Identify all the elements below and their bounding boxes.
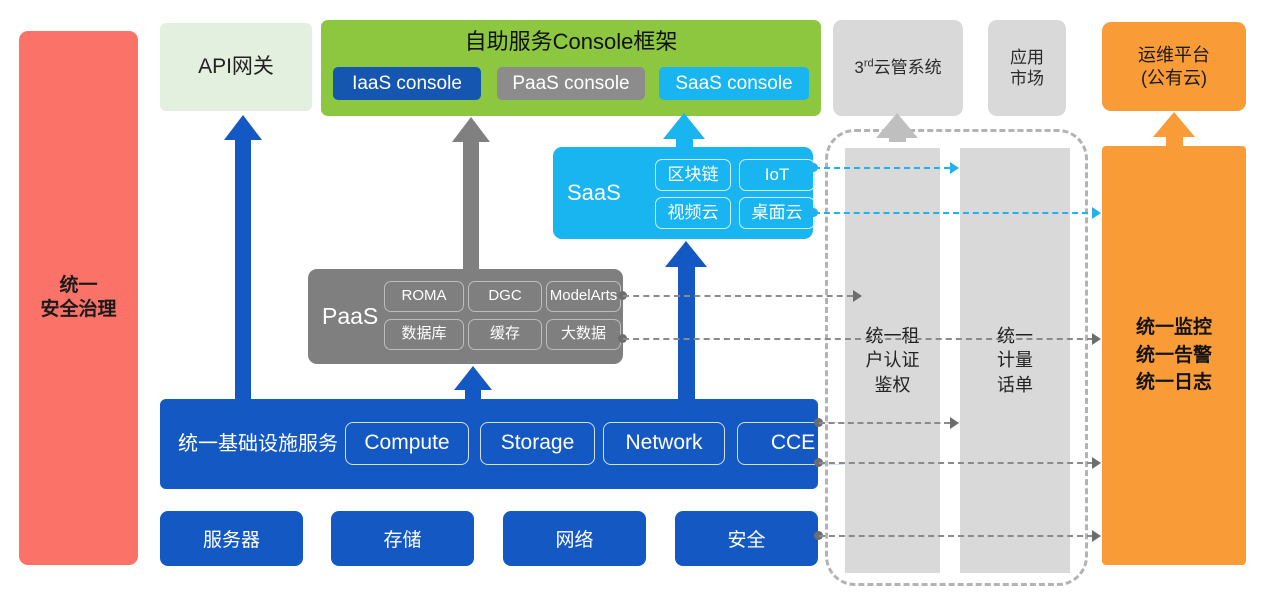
paas-console-chip[interactable]: PaaS console: [497, 67, 645, 100]
self-service-console-frame[interactable]: 自助服务Console框架 IaaS console PaaS console …: [321, 20, 821, 116]
dashed-line-paas-to-ops: [623, 338, 1093, 340]
hardware-box-network[interactable]: 网络: [503, 511, 646, 566]
dashed-arrowhead-hardware-to-ops: [1092, 530, 1101, 542]
hardware-box-server-label: 服务器: [203, 525, 260, 552]
arrow-infra-to-api-gateway: [224, 115, 262, 401]
dashed-line-infra-to-ops: [819, 462, 1093, 464]
hardware-box-storage-label: 存储: [383, 525, 421, 552]
architecture-diagram: 统一 安全治理 API网关 自助服务Console框架 IaaS console…: [0, 0, 1265, 605]
dashed-line-hardware-to-ops: [819, 535, 1093, 537]
paas-chip-cache-label: 缓存: [490, 325, 520, 344]
unified-billing-label: 统一 计量 话单: [997, 324, 1033, 397]
unified-security-governance-label: 统一 安全治理: [40, 274, 116, 322]
saas-chip-iot[interactable]: IoT: [739, 159, 815, 191]
unified-security-governance-panel[interactable]: 统一 安全治理: [19, 31, 138, 565]
paas-chip-modelarts[interactable]: ModelArts: [546, 281, 621, 312]
arrow-saas-to-saas-console: [663, 113, 705, 151]
third-party-superscript: rd: [864, 58, 874, 70]
arrow-infra-to-paas: [454, 366, 492, 402]
unified-infrastructure-service-name: 统一基础设施服务: [178, 399, 338, 489]
paas-chip-database-label: 数据库: [401, 325, 446, 344]
dashed-arrowhead-saas-to-billing: [950, 162, 959, 174]
infra-chip-network-label: Network: [625, 430, 702, 456]
dashed-line-paas-to-auth: [623, 295, 853, 297]
saas-chip-blockchain-label: 区块链: [668, 164, 719, 185]
dashed-arrowhead-paas-to-auth: [853, 290, 862, 302]
saas-layer[interactable]: SaaS 区块链 IoT 视频云 桌面云: [553, 147, 813, 239]
infra-chip-storage-label: Storage: [501, 430, 575, 456]
paas-chip-dgc-label: DGC: [488, 287, 521, 306]
saas-layer-name: SaaS: [567, 147, 621, 239]
third-party-prefix: 3: [854, 58, 863, 77]
infra-chip-network[interactable]: Network: [603, 422, 725, 465]
saas-chip-iot-label: IoT: [765, 164, 790, 185]
console-frame-title: 自助服务Console框架: [321, 28, 821, 56]
hardware-box-security[interactable]: 安全: [675, 511, 818, 566]
infra-chip-storage[interactable]: Storage: [480, 422, 595, 465]
api-gateway-label: API网关: [198, 54, 274, 80]
app-market-box[interactable]: 应用 市场: [988, 20, 1066, 116]
dashed-arrowhead-infra-to-ops: [1092, 457, 1101, 469]
unified-tenant-auth-label: 统一租 户认证 鉴权: [866, 324, 920, 397]
saas-chip-video-cloud-label: 视频云: [668, 202, 719, 223]
paas-layer-name: PaaS: [322, 269, 378, 364]
third-party-cloud-management-label: 3rd云管系统: [854, 57, 941, 78]
dashed-line-infra-to-billing: [819, 422, 950, 424]
hardware-box-security-label: 安全: [727, 525, 765, 552]
paas-chip-dgc[interactable]: DGC: [468, 281, 542, 312]
saas-chip-desktop-cloud-label: 桌面云: [752, 202, 803, 223]
iaas-console-label: IaaS console: [352, 72, 462, 96]
third-party-suffix: 云管系统: [874, 58, 942, 77]
hardware-box-network-label: 网络: [555, 525, 593, 552]
dashed-arrowhead-saas-to-ops: [1092, 207, 1101, 219]
saas-console-chip[interactable]: SaaS console: [659, 67, 809, 100]
paas-chip-bigdata[interactable]: 大数据: [546, 319, 621, 350]
unified-infrastructure-service-bar[interactable]: 统一基础设施服务 Compute Storage Network CCE: [160, 399, 818, 489]
paas-layer[interactable]: PaaS ROMA DGC ModelArts 数据库 缓存 大数据: [308, 269, 623, 364]
arrow-ops-main-to-ops-top: [1153, 112, 1195, 148]
dashed-arrowhead-paas-to-ops: [1092, 333, 1101, 345]
arrow-infra-to-saas: [665, 241, 707, 403]
dashed-line-saas-to-ops: [814, 212, 1098, 214]
saas-chip-blockchain[interactable]: 区块链: [655, 159, 731, 191]
paas-chip-cache[interactable]: 缓存: [468, 319, 542, 350]
unified-monitoring-alarm-log-panel[interactable]: 统一监控 统一告警 统一日志: [1102, 146, 1246, 565]
infra-chip-cce-label: CCE: [771, 430, 815, 456]
ops-platform-public-cloud-box[interactable]: 运维平台 (公有云): [1102, 22, 1246, 111]
iaas-console-chip[interactable]: IaaS console: [333, 67, 481, 100]
hardware-box-server[interactable]: 服务器: [160, 511, 303, 566]
paas-chip-roma[interactable]: ROMA: [384, 281, 464, 312]
dashed-arrowhead-infra-to-billing: [950, 417, 959, 429]
paas-chip-roma-label: ROMA: [402, 287, 447, 306]
api-gateway-box[interactable]: API网关: [160, 23, 312, 111]
third-party-cloud-management-box[interactable]: 3rd云管系统: [833, 20, 963, 116]
paas-chip-database[interactable]: 数据库: [384, 319, 464, 350]
saas-chip-desktop-cloud[interactable]: 桌面云: [739, 197, 815, 229]
paas-chip-bigdata-label: 大数据: [561, 325, 606, 344]
infra-chip-compute[interactable]: Compute: [345, 422, 469, 465]
arrow-paas-to-console: [452, 117, 490, 271]
ops-platform-label: 运维平台 (公有云): [1138, 44, 1210, 89]
saas-console-label: SaaS console: [675, 72, 792, 96]
paas-chip-modelarts-label: ModelArts: [550, 287, 618, 306]
dashed-line-saas-to-billing: [814, 167, 950, 169]
saas-chip-video-cloud[interactable]: 视频云: [655, 197, 731, 229]
app-market-label: 应用 市场: [1010, 47, 1044, 90]
unified-monitoring-alarm-log-label: 统一监控 统一告警 统一日志: [1136, 314, 1212, 397]
paas-console-label: PaaS console: [512, 72, 629, 96]
infra-chip-compute-label: Compute: [364, 430, 449, 456]
hardware-box-storage[interactable]: 存储: [331, 511, 474, 566]
